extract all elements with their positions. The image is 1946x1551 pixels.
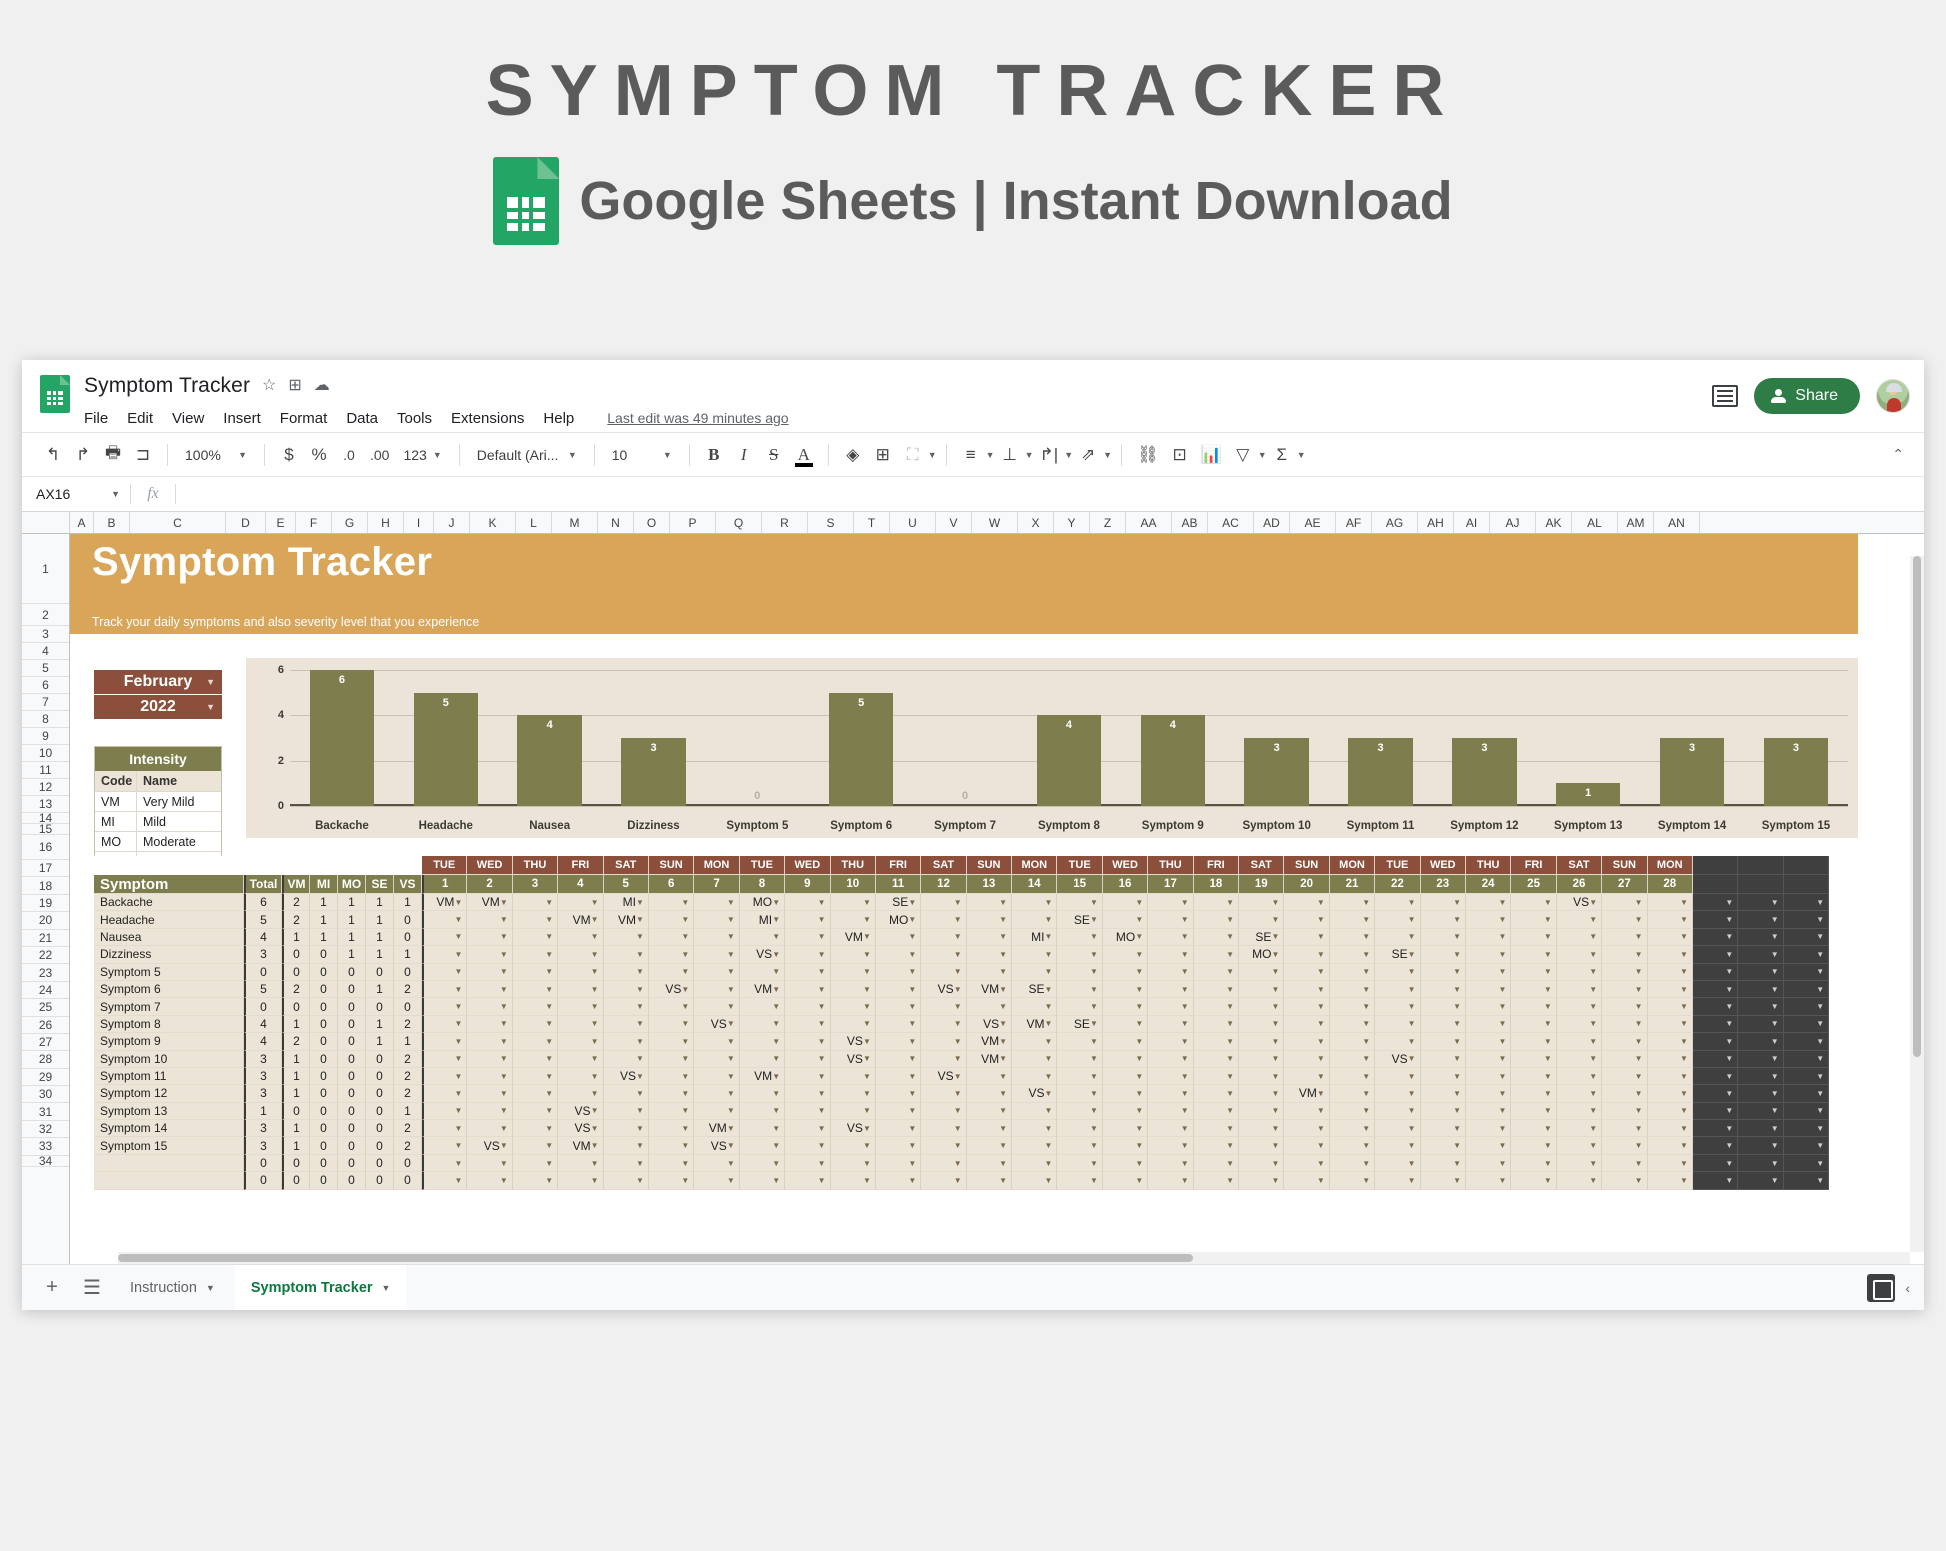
- chevron-down-icon[interactable]: ▼: [1498, 932, 1506, 941]
- chevron-down-icon[interactable]: ▼: [1090, 932, 1098, 941]
- chevron-down-icon[interactable]: ▼: [1680, 985, 1688, 994]
- cell-symptom-name[interactable]: Symptom 13: [94, 1103, 244, 1120]
- chevron-down-icon[interactable]: ▼: [1725, 1124, 1733, 1133]
- cell-day-17[interactable]: ▼: [1148, 998, 1193, 1015]
- cell-day-15[interactable]: ▼: [1057, 946, 1102, 963]
- cell-day-1[interactable]: ▼: [422, 1016, 467, 1033]
- chevron-down-icon[interactable]: ▼: [1135, 1002, 1143, 1011]
- chevron-down-icon[interactable]: ▼: [1680, 898, 1688, 907]
- cell-day-19[interactable]: ▼: [1239, 1155, 1284, 1172]
- cell-day-5[interactable]: ▼: [604, 964, 649, 981]
- chevron-down-icon[interactable]: ▼: [1635, 1002, 1643, 1011]
- cell-symptom-name[interactable]: Symptom 9: [94, 1033, 244, 1050]
- chevron-down-icon[interactable]: ▼: [1816, 1124, 1824, 1133]
- chevron-down-icon[interactable]: ▼: [727, 932, 735, 941]
- cell-day-9[interactable]: ▼: [785, 998, 830, 1015]
- cell-day-8[interactable]: ▼: [740, 1016, 785, 1033]
- chevron-down-icon[interactable]: ▼: [1317, 1054, 1325, 1063]
- chevron-down-icon[interactable]: ▼: [636, 1054, 644, 1063]
- cell-day-5[interactable]: ▼: [604, 1085, 649, 1102]
- chevron-down-icon[interactable]: ▼: [1498, 1089, 1506, 1098]
- borders-icon[interactable]: ⊞: [868, 440, 898, 470]
- chevron-down-icon[interactable]: ▼: [636, 1072, 644, 1081]
- chevron-down-icon[interactable]: ▼: [500, 1106, 508, 1115]
- cell-day-26[interactable]: ▼: [1557, 964, 1602, 981]
- chevron-down-icon[interactable]: ▼: [999, 1002, 1007, 1011]
- cell-day-11[interactable]: ▼: [876, 1085, 921, 1102]
- cell-day-3[interactable]: ▼: [513, 998, 558, 1015]
- column-header-y[interactable]: Y: [1054, 512, 1090, 533]
- chevron-down-icon[interactable]: ▼: [772, 1037, 780, 1046]
- chevron-down-icon[interactable]: ▼: [908, 932, 916, 941]
- cell-day-15[interactable]: SE▼: [1057, 911, 1102, 928]
- cell-day-6[interactable]: ▼: [649, 1103, 694, 1120]
- chevron-down-icon[interactable]: ▼: [908, 1019, 916, 1028]
- cell-day-22[interactable]: ▼: [1375, 998, 1420, 1015]
- cell-day-2[interactable]: ▼: [467, 911, 512, 928]
- chevron-down-icon[interactable]: ▼: [908, 1072, 916, 1081]
- cell-day-22[interactable]: ▼: [1375, 1120, 1420, 1137]
- cell-day-1[interactable]: ▼: [422, 1137, 467, 1154]
- cell-day-26[interactable]: ▼: [1557, 911, 1602, 928]
- row-header-2[interactable]: 2: [22, 604, 69, 626]
- cell-day-13[interactable]: ▼: [967, 1085, 1012, 1102]
- chevron-down-icon[interactable]: ▼: [999, 1054, 1007, 1063]
- chevron-down-icon[interactable]: ▼: [1771, 967, 1779, 976]
- cell-day-7[interactable]: ▼: [694, 1033, 739, 1050]
- cell-day-22[interactable]: ▼: [1375, 911, 1420, 928]
- chevron-down-icon[interactable]: ▼: [1362, 1106, 1370, 1115]
- menu-insert[interactable]: Insert: [223, 410, 261, 427]
- cell-day-11[interactable]: MO▼: [876, 911, 921, 928]
- chevron-down-icon[interactable]: ▼: [681, 1089, 689, 1098]
- cell-day-18[interactable]: ▼: [1194, 1120, 1239, 1137]
- chevron-down-icon[interactable]: ▼: [1045, 1072, 1053, 1081]
- chevron-down-icon[interactable]: ▼: [500, 1002, 508, 1011]
- cell-day-15[interactable]: ▼: [1057, 1172, 1102, 1189]
- cell-day-extra[interactable]: ▼: [1784, 911, 1829, 928]
- chevron-down-icon[interactable]: ▼: [772, 915, 780, 924]
- cell-day-13[interactable]: ▼: [967, 998, 1012, 1015]
- vertical-align-icon[interactable]: ⊥: [995, 440, 1025, 470]
- cell-day-extra[interactable]: ▼: [1693, 1120, 1738, 1137]
- cell-day-5[interactable]: ▼: [604, 1120, 649, 1137]
- chevron-down-icon[interactable]: ▼: [1090, 1072, 1098, 1081]
- cell-day-4[interactable]: ▼: [558, 1155, 603, 1172]
- chevron-down-icon[interactable]: ▼: [1362, 1141, 1370, 1150]
- cell-day-13[interactable]: ▼: [967, 929, 1012, 946]
- chevron-down-icon[interactable]: ▼: [1317, 950, 1325, 959]
- cell-day-28[interactable]: ▼: [1648, 946, 1693, 963]
- row-header-30[interactable]: 30: [22, 1086, 69, 1103]
- chevron-down-icon[interactable]: ▼: [545, 1072, 553, 1081]
- cell-day-2[interactable]: ▼: [467, 1120, 512, 1137]
- column-header-u[interactable]: U: [890, 512, 936, 533]
- column-header-v[interactable]: V: [936, 512, 972, 533]
- chevron-down-icon[interactable]: ▼: [500, 1037, 508, 1046]
- chevron-down-icon[interactable]: ▼: [863, 1141, 871, 1150]
- chevron-down-icon[interactable]: ▼: [863, 932, 871, 941]
- chevron-down-icon[interactable]: ▼: [1408, 1072, 1416, 1081]
- chevron-down-icon[interactable]: ▼: [1816, 1019, 1824, 1028]
- chevron-down-icon[interactable]: ▼: [454, 1106, 462, 1115]
- chevron-down-icon[interactable]: ▼: [1045, 1037, 1053, 1046]
- cell-day-9[interactable]: ▼: [785, 1085, 830, 1102]
- chevron-down-icon[interactable]: ▼: [500, 915, 508, 924]
- cell-day-16[interactable]: ▼: [1103, 1172, 1148, 1189]
- cell-day-21[interactable]: ▼: [1330, 1137, 1375, 1154]
- cell-day-5[interactable]: ▼: [604, 1016, 649, 1033]
- cell-day-8[interactable]: ▼: [740, 929, 785, 946]
- chevron-down-icon[interactable]: ▼: [1635, 1054, 1643, 1063]
- chevron-down-icon[interactable]: ▼: [1135, 1037, 1143, 1046]
- chevron-down-icon[interactable]: ▼: [954, 967, 962, 976]
- chevron-down-icon[interactable]: ▼: [1498, 915, 1506, 924]
- chevron-down-icon[interactable]: ▼: [1453, 950, 1461, 959]
- chevron-down-icon[interactable]: ▼: [1453, 1054, 1461, 1063]
- cell-day-20[interactable]: ▼: [1284, 1033, 1329, 1050]
- cell-day-16[interactable]: ▼: [1103, 1068, 1148, 1085]
- cell-day-extra[interactable]: ▼: [1693, 1051, 1738, 1068]
- cell-day-10[interactable]: ▼: [831, 1137, 876, 1154]
- chevron-down-icon[interactable]: ▼: [1589, 898, 1597, 907]
- cell-day-16[interactable]: ▼: [1103, 1155, 1148, 1172]
- chevron-down-icon[interactable]: ▼: [1589, 915, 1597, 924]
- cell-day-20[interactable]: ▼: [1284, 964, 1329, 981]
- cell-day-8[interactable]: ▼: [740, 1103, 785, 1120]
- cell-day-8[interactable]: ▼: [740, 964, 785, 981]
- cell-day-8[interactable]: ▼: [740, 1085, 785, 1102]
- chevron-down-icon[interactable]: ▼: [545, 1106, 553, 1115]
- cell-day-3[interactable]: ▼: [513, 1137, 558, 1154]
- cell-day-28[interactable]: ▼: [1648, 911, 1693, 928]
- cell-day-17[interactable]: ▼: [1148, 1172, 1193, 1189]
- cell-day-19[interactable]: ▼: [1239, 981, 1284, 998]
- chevron-down-icon[interactable]: ▼: [591, 1019, 599, 1028]
- chevron-down-icon[interactable]: ▼: [1135, 898, 1143, 907]
- chevron-down-icon[interactable]: ▼: [1544, 985, 1552, 994]
- chevron-down-icon[interactable]: ▼: [1544, 932, 1552, 941]
- chevron-down-icon[interactable]: ▼: [500, 1019, 508, 1028]
- column-header-e[interactable]: E: [266, 512, 296, 533]
- column-header-s[interactable]: S: [808, 512, 854, 533]
- cell-day-26[interactable]: ▼: [1557, 1016, 1602, 1033]
- chevron-down-icon[interactable]: ▼: [772, 1054, 780, 1063]
- chevron-down-icon[interactable]: ▼: [1816, 967, 1824, 976]
- chevron-down-icon[interactable]: ▼: [591, 932, 599, 941]
- cell-day-21[interactable]: ▼: [1330, 1085, 1375, 1102]
- cell-day-12[interactable]: ▼: [921, 1103, 966, 1120]
- cell-day-27[interactable]: ▼: [1602, 1103, 1647, 1120]
- cell-day-1[interactable]: ▼: [422, 911, 467, 928]
- chevron-down-icon[interactable]: ▼: [1453, 1124, 1461, 1133]
- chevron-down-icon[interactable]: ▼: [591, 1141, 599, 1150]
- chevron-down-icon[interactable]: ▼: [1544, 1019, 1552, 1028]
- cell-day-25[interactable]: ▼: [1511, 1068, 1556, 1085]
- chevron-down-icon[interactable]: ▼: [999, 1176, 1007, 1185]
- cell-day-11[interactable]: ▼: [876, 998, 921, 1015]
- zoom-selector[interactable]: 100% ▼: [177, 440, 255, 470]
- chevron-down-icon[interactable]: ▼: [1453, 932, 1461, 941]
- cell-day-2[interactable]: ▼: [467, 1155, 512, 1172]
- chevron-down-icon[interactable]: ▼: [818, 898, 826, 907]
- chevron-down-icon[interactable]: ▼: [1498, 1019, 1506, 1028]
- cell-day-6[interactable]: ▼: [649, 911, 694, 928]
- cell-day-23[interactable]: ▼: [1421, 911, 1466, 928]
- cell-day-20[interactable]: ▼: [1284, 1120, 1329, 1137]
- chevron-down-icon[interactable]: ▼: [1317, 1176, 1325, 1185]
- cell-day-15[interactable]: ▼: [1057, 964, 1102, 981]
- text-rotation-icon[interactable]: ⇗: [1073, 440, 1103, 470]
- chevron-down-icon[interactable]: ▼: [1272, 1037, 1280, 1046]
- chevron-down-icon[interactable]: ▼: [1362, 932, 1370, 941]
- chevron-down-icon[interactable]: ▼: [1589, 932, 1597, 941]
- cell-day-25[interactable]: ▼: [1511, 1137, 1556, 1154]
- chevron-down-icon[interactable]: ▼: [818, 1019, 826, 1028]
- chevron-down-icon[interactable]: ▼: [908, 950, 916, 959]
- cell-day-6[interactable]: ▼: [649, 946, 694, 963]
- cell-day-26[interactable]: ▼: [1557, 946, 1602, 963]
- chevron-down-icon[interactable]: ▼: [454, 985, 462, 994]
- column-header-ak[interactable]: AK: [1536, 512, 1572, 533]
- cell-day-18[interactable]: ▼: [1194, 981, 1239, 998]
- chevron-down-icon[interactable]: ▼: [545, 1159, 553, 1168]
- chevron-down-icon[interactable]: ▼: [1408, 1002, 1416, 1011]
- cell-day-28[interactable]: ▼: [1648, 1172, 1693, 1189]
- chevron-down-icon[interactable]: ▼: [1408, 898, 1416, 907]
- chevron-down-icon[interactable]: ▼: [1408, 950, 1416, 959]
- chevron-down-icon[interactable]: ▼: [999, 1089, 1007, 1098]
- cell-day-10[interactable]: ▼: [831, 1068, 876, 1085]
- chevron-down-icon[interactable]: ▼: [1135, 1176, 1143, 1185]
- chevron-down-icon[interactable]: ▼: [500, 1072, 508, 1081]
- chevron-down-icon[interactable]: ▼: [1544, 898, 1552, 907]
- chevron-down-icon[interactable]: ▼: [591, 1124, 599, 1133]
- cell-day-25[interactable]: ▼: [1511, 929, 1556, 946]
- chevron-down-icon[interactable]: ▼: [681, 1124, 689, 1133]
- chevron-down-icon[interactable]: ▼: [772, 898, 780, 907]
- chevron-down-icon[interactable]: ▼: [591, 898, 599, 907]
- chevron-down-icon[interactable]: ▼: [636, 1141, 644, 1150]
- cell-day-6[interactable]: ▼: [649, 894, 694, 911]
- cell-day-4[interactable]: ▼: [558, 964, 603, 981]
- chevron-down-icon[interactable]: ▼: [1498, 985, 1506, 994]
- chevron-down-icon[interactable]: ▼: [1317, 1072, 1325, 1081]
- text-wrap-icon[interactable]: ↱|: [1034, 440, 1065, 470]
- cell-day-28[interactable]: ▼: [1648, 1068, 1693, 1085]
- cell-day-13[interactable]: VM▼: [967, 1051, 1012, 1068]
- cell-day-extra[interactable]: ▼: [1738, 1155, 1783, 1172]
- cell-day-3[interactable]: ▼: [513, 981, 558, 998]
- cell-day-12[interactable]: ▼: [921, 1051, 966, 1068]
- cell-day-extra[interactable]: ▼: [1738, 1120, 1783, 1137]
- cell-symptom-name[interactable]: [94, 1155, 244, 1172]
- chevron-down-icon[interactable]: ▼: [1090, 1176, 1098, 1185]
- cell-day-26[interactable]: ▼: [1557, 1033, 1602, 1050]
- chevron-down-icon[interactable]: ▼: [1317, 915, 1325, 924]
- cell-day-1[interactable]: ▼: [422, 946, 467, 963]
- chevron-down-icon[interactable]: ▼: [1498, 1054, 1506, 1063]
- chevron-down-icon[interactable]: ▼: [1544, 1072, 1552, 1081]
- chevron-down-icon[interactable]: ▼: [954, 985, 962, 994]
- cell-day-20[interactable]: ▼: [1284, 1137, 1329, 1154]
- chevron-down-icon[interactable]: ▼: [681, 1106, 689, 1115]
- chevron-down-icon[interactable]: ▼: [1226, 1054, 1234, 1063]
- chevron-down-icon[interactable]: ▼: [500, 1089, 508, 1098]
- cell-day-11[interactable]: ▼: [876, 1016, 921, 1033]
- chevron-down-icon[interactable]: ▼: [727, 1002, 735, 1011]
- cell-day-19[interactable]: ▼: [1239, 1103, 1284, 1120]
- cell-day-extra[interactable]: ▼: [1784, 894, 1829, 911]
- cell-day-19[interactable]: ▼: [1239, 911, 1284, 928]
- cell-day-15[interactable]: ▼: [1057, 1155, 1102, 1172]
- cell-day-24[interactable]: ▼: [1466, 1137, 1511, 1154]
- chevron-down-icon[interactable]: ▼: [1771, 1019, 1779, 1028]
- chevron-down-icon[interactable]: ▼: [999, 915, 1007, 924]
- cell-day-9[interactable]: ▼: [785, 1051, 830, 1068]
- chevron-down-icon[interactable]: ▼: [863, 1019, 871, 1028]
- cell-day-13[interactable]: VM▼: [967, 1033, 1012, 1050]
- chevron-down-icon[interactable]: ▼: [500, 950, 508, 959]
- chevron-down-icon[interactable]: ▼: [1181, 915, 1189, 924]
- cell-day-13[interactable]: ▼: [967, 1120, 1012, 1137]
- cell-day-13[interactable]: VS▼: [967, 1016, 1012, 1033]
- cell-day-12[interactable]: ▼: [921, 1085, 966, 1102]
- cell-day-21[interactable]: ▼: [1330, 1155, 1375, 1172]
- cell-day-9[interactable]: ▼: [785, 964, 830, 981]
- chevron-down-icon[interactable]: ▼: [1226, 1159, 1234, 1168]
- chevron-down-icon[interactable]: ▼: [999, 967, 1007, 976]
- cell-day-5[interactable]: ▼: [604, 1155, 649, 1172]
- chevron-down-icon[interactable]: ▼: [1453, 967, 1461, 976]
- column-header-k[interactable]: K: [470, 512, 516, 533]
- cell-day-17[interactable]: ▼: [1148, 1068, 1193, 1085]
- cell-day-27[interactable]: ▼: [1602, 1137, 1647, 1154]
- cell-day-15[interactable]: ▼: [1057, 981, 1102, 998]
- chevron-down-icon[interactable]: ▼: [1725, 915, 1733, 924]
- cell-day-22[interactable]: ▼: [1375, 1016, 1420, 1033]
- cell-day-extra[interactable]: ▼: [1738, 998, 1783, 1015]
- chevron-down-icon[interactable]: ▼: [1453, 1019, 1461, 1028]
- cell-day-20[interactable]: ▼: [1284, 981, 1329, 998]
- cell-day-19[interactable]: ▼: [1239, 1120, 1284, 1137]
- chevron-down-icon[interactable]: ▼: [591, 1054, 599, 1063]
- cell-day-8[interactable]: MO▼: [740, 894, 785, 911]
- chevron-down-icon[interactable]: ▼: [818, 1124, 826, 1133]
- cell-day-4[interactable]: ▼: [558, 1068, 603, 1085]
- cell-day-22[interactable]: ▼: [1375, 1085, 1420, 1102]
- chevron-down-icon[interactable]: ▼: [545, 898, 553, 907]
- cell-day-10[interactable]: ▼: [831, 1172, 876, 1189]
- cell-day-25[interactable]: ▼: [1511, 1085, 1556, 1102]
- cell-day-8[interactable]: ▼: [740, 998, 785, 1015]
- chevron-down-icon[interactable]: ▼: [818, 1072, 826, 1081]
- chevron-down-icon[interactable]: ▼: [908, 1037, 916, 1046]
- cell-day-25[interactable]: ▼: [1511, 911, 1556, 928]
- cell-day-11[interactable]: ▼: [876, 1155, 921, 1172]
- cell-day-18[interactable]: ▼: [1194, 946, 1239, 963]
- cell-day-4[interactable]: ▼: [558, 1033, 603, 1050]
- cell-day-10[interactable]: ▼: [831, 998, 876, 1015]
- chevron-down-icon[interactable]: ▼: [772, 1159, 780, 1168]
- chevron-down-icon[interactable]: ▼: [1226, 1089, 1234, 1098]
- cell-day-17[interactable]: ▼: [1148, 1103, 1193, 1120]
- chevron-down-icon[interactable]: ▼: [1816, 898, 1824, 907]
- chevron-down-icon[interactable]: ▼: [1680, 1141, 1688, 1150]
- chevron-down-icon[interactable]: ▼: [1725, 1089, 1733, 1098]
- chevron-down-icon[interactable]: ▼: [1226, 1019, 1234, 1028]
- cell-day-extra[interactable]: ▼: [1784, 1051, 1829, 1068]
- cell-day-25[interactable]: ▼: [1511, 894, 1556, 911]
- chevron-down-icon[interactable]: ▼: [954, 1141, 962, 1150]
- chevron-down-icon[interactable]: ▼: [545, 915, 553, 924]
- chevron-down-icon[interactable]: ▼: [1226, 1141, 1234, 1150]
- row-header-4[interactable]: 4: [22, 643, 69, 660]
- cell-day-extra[interactable]: ▼: [1693, 1033, 1738, 1050]
- user-avatar[interactable]: [1876, 379, 1910, 413]
- chevron-down-icon[interactable]: ▼: [1680, 1072, 1688, 1081]
- cell-day-9[interactable]: ▼: [785, 1172, 830, 1189]
- cell-day-14[interactable]: VS▼: [1012, 1085, 1057, 1102]
- chevron-down-icon[interactable]: ▼: [772, 1072, 780, 1081]
- scrollbar-thumb[interactable]: [118, 1254, 1193, 1262]
- cell-day-12[interactable]: ▼: [921, 894, 966, 911]
- cell-day-16[interactable]: ▼: [1103, 964, 1148, 981]
- font-family-selector[interactable]: Default (Ari... ▼: [469, 440, 585, 470]
- cell-day-20[interactable]: ▼: [1284, 946, 1329, 963]
- cell-day-6[interactable]: ▼: [649, 1068, 694, 1085]
- cell-day-17[interactable]: ▼: [1148, 1051, 1193, 1068]
- cell-day-extra[interactable]: ▼: [1693, 1016, 1738, 1033]
- cell-day-24[interactable]: ▼: [1466, 998, 1511, 1015]
- chevron-down-icon[interactable]: ▼: [1453, 1141, 1461, 1150]
- chevron-down-icon[interactable]: ▼: [1544, 950, 1552, 959]
- cell-day-extra[interactable]: ▼: [1784, 1103, 1829, 1120]
- row-header-5[interactable]: 5: [22, 660, 69, 677]
- cell-day-3[interactable]: ▼: [513, 894, 558, 911]
- cell-day-2[interactable]: ▼: [467, 981, 512, 998]
- cell-day-4[interactable]: ▼: [558, 1016, 603, 1033]
- menu-extensions[interactable]: Extensions: [451, 410, 524, 427]
- cell-day-13[interactable]: ▼: [967, 911, 1012, 928]
- cell-day-extra[interactable]: ▼: [1693, 911, 1738, 928]
- cell-day-20[interactable]: ▼: [1284, 1016, 1329, 1033]
- cell-day-extra[interactable]: ▼: [1784, 998, 1829, 1015]
- chevron-down-icon[interactable]: ▼: [1317, 1106, 1325, 1115]
- cell-day-9[interactable]: ▼: [785, 1137, 830, 1154]
- chevron-down-icon[interactable]: ▼: [1816, 985, 1824, 994]
- cell-day-19[interactable]: ▼: [1239, 1172, 1284, 1189]
- cell-day-3[interactable]: ▼: [513, 1033, 558, 1050]
- row-header-24[interactable]: 24: [22, 982, 69, 999]
- document-title[interactable]: Symptom Tracker: [84, 374, 250, 398]
- chevron-down-icon[interactable]: ▼: [1589, 950, 1597, 959]
- cell-day-24[interactable]: ▼: [1466, 911, 1511, 928]
- chevron-down-icon[interactable]: ▼: [1453, 1159, 1461, 1168]
- select-all-corner[interactable]: [22, 512, 70, 533]
- chevron-down-icon[interactable]: ▼: [863, 1106, 871, 1115]
- cell-day-19[interactable]: ▼: [1239, 1068, 1284, 1085]
- cell-day-18[interactable]: ▼: [1194, 1016, 1239, 1033]
- chevron-down-icon[interactable]: ▼: [636, 1089, 644, 1098]
- chevron-down-icon[interactable]: ▼: [727, 915, 735, 924]
- cell-symptom-name[interactable]: Nausea: [94, 929, 244, 946]
- cell-day-14[interactable]: ▼: [1012, 1137, 1057, 1154]
- cell-day-27[interactable]: ▼: [1602, 1051, 1647, 1068]
- cell-day-6[interactable]: ▼: [649, 964, 694, 981]
- insert-link-icon[interactable]: ⛓: [1131, 440, 1165, 470]
- cell-day-14[interactable]: ▼: [1012, 998, 1057, 1015]
